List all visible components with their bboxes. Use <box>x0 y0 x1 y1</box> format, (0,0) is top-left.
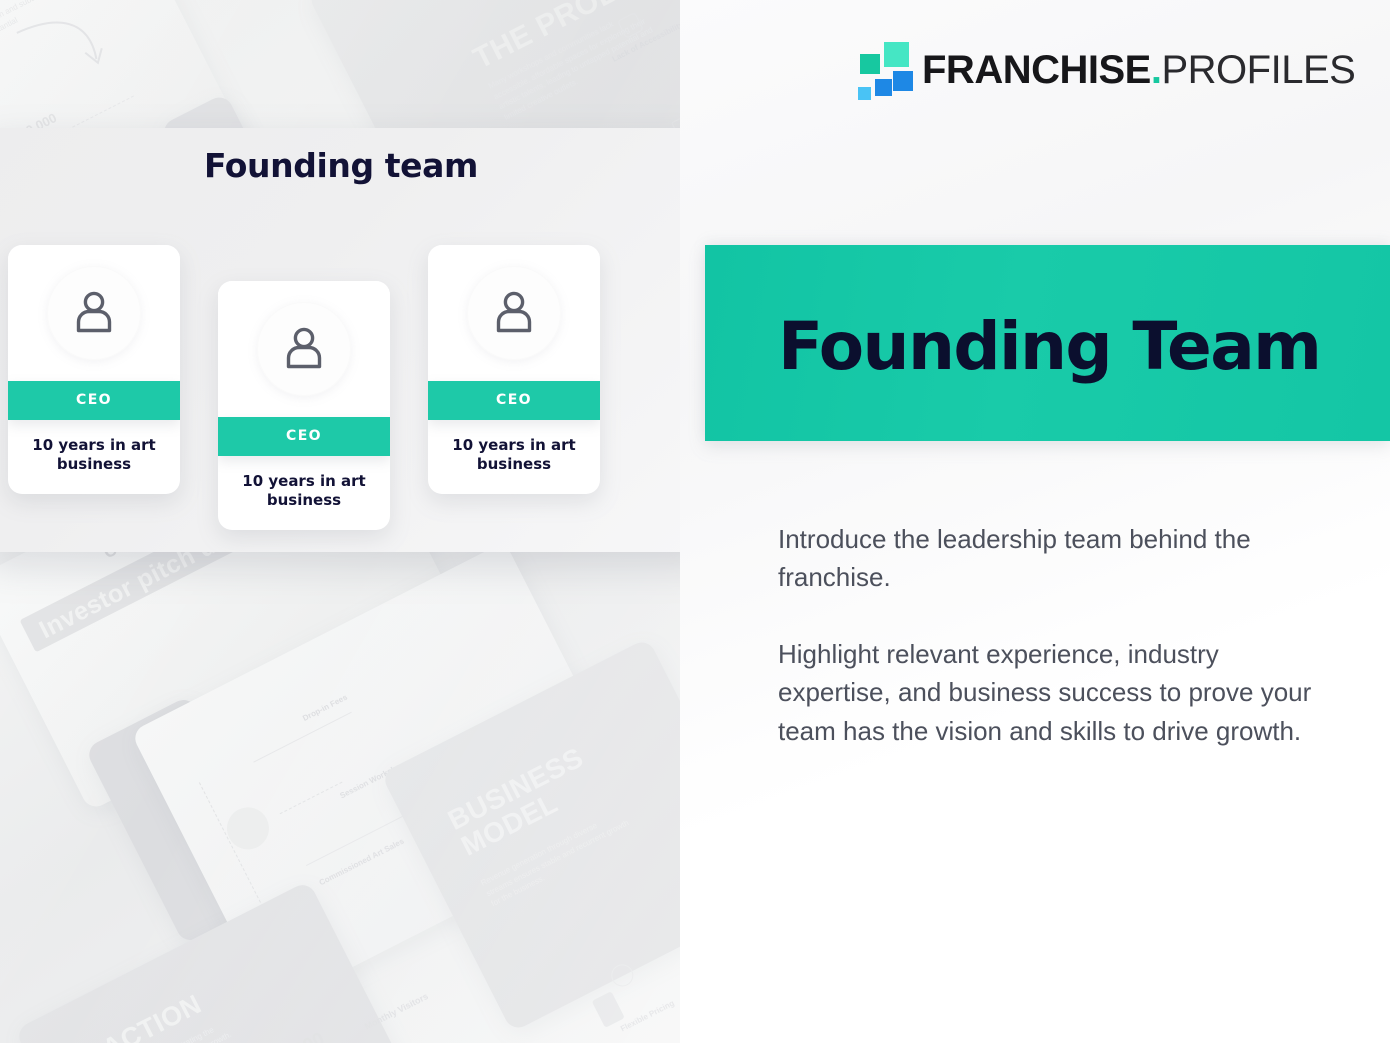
person-icon <box>71 289 117 337</box>
logo-dot: . <box>1151 48 1162 92</box>
logo-square-blue-small <box>875 79 892 96</box>
member-description: 10 years in art business <box>428 420 600 494</box>
person-icon <box>491 289 537 337</box>
page-title: Founding Team <box>778 308 1320 385</box>
team-cards-row: CEO 10 years in art business CEO <box>0 128 706 552</box>
logo-wordmark: FRANCHISE.PROFILES <box>922 50 1355 90</box>
collage-metric-visitors-label: Monthly Visitors <box>363 990 431 1033</box>
avatar <box>467 266 561 360</box>
logo-square-light-blue <box>858 87 871 100</box>
avatar <box>257 302 351 396</box>
description-paragraph-1: Introduce the leadership team behind the… <box>778 520 1338 597</box>
logo-square-blue-large <box>893 71 913 91</box>
collage-traction-title: TRACTION <box>65 989 207 1043</box>
member-description: 10 years in art business <box>218 456 390 530</box>
member-description: 10 years in art business <box>8 420 180 494</box>
brand-logo[interactable]: FRANCHISE.PROFILES <box>852 40 1355 100</box>
collage-label-dropin-fees: Drop-in Fees <box>301 693 349 725</box>
avatar-container <box>8 245 180 381</box>
description-text: Introduce the leadership team behind the… <box>778 520 1338 750</box>
avatar <box>47 266 141 360</box>
slide-canvas: MARKET advances in urban and suburban ce… <box>0 0 1390 1043</box>
logo-franchise-text: FRANCHISE <box>922 48 1151 92</box>
logo-profiles-text: PROFILES <box>1161 48 1355 92</box>
team-member-card[interactable]: CEO 10 years in art business <box>428 245 600 494</box>
logo-square-teal <box>860 54 880 74</box>
role-badge: CEO <box>218 417 390 456</box>
slide-preview-card[interactable]: Founding team CEO 10 years in art <box>0 128 706 552</box>
avatar-container <box>428 245 600 381</box>
person-icon <box>281 325 327 373</box>
role-badge: CEO <box>428 381 600 420</box>
role-badge: CEO <box>8 381 180 420</box>
description-paragraph-2: Highlight relevant experience, industry … <box>778 635 1338 750</box>
team-member-card[interactable]: CEO 10 years in art business <box>218 281 390 530</box>
team-member-card[interactable]: CEO 10 years in art business <box>8 245 180 494</box>
collage-label-commissioned-sales: Commissioned Art Sales <box>318 837 407 889</box>
logo-square-mint <box>884 42 909 67</box>
logo-squares-icon <box>852 40 908 100</box>
avatar-container <box>218 281 390 417</box>
